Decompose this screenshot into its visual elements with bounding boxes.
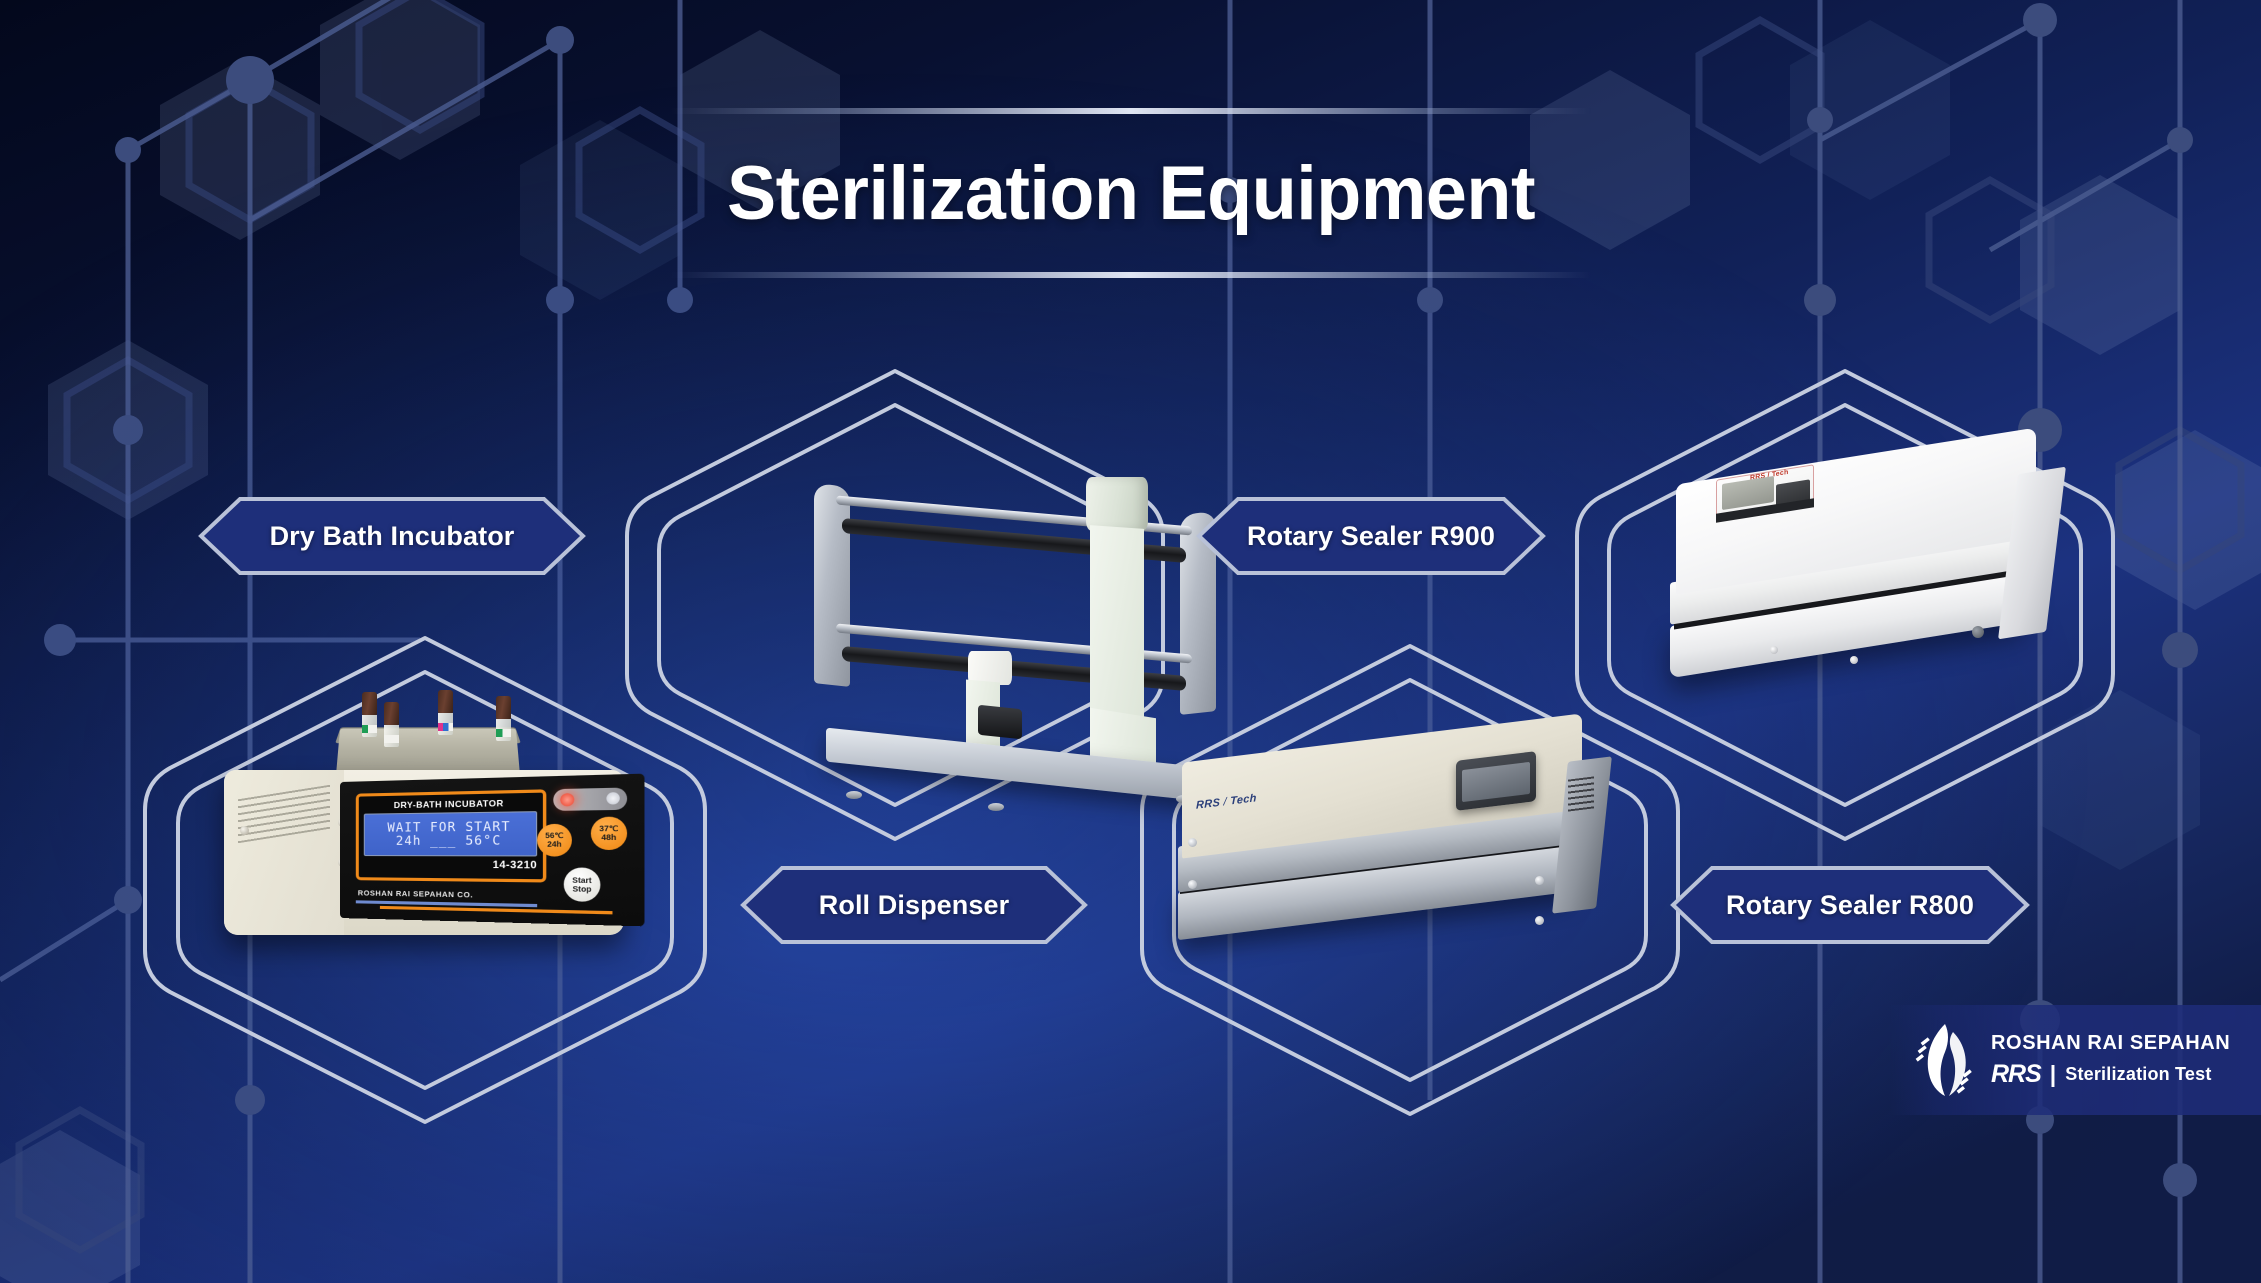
incubator-display-frame: DRY-BATH INCUBATOR WAIT FOR START 24h __… — [356, 789, 547, 882]
incubator-lcd-line2: 24h ___ 56°C — [396, 834, 502, 848]
incubator-button-start-stop[interactable]: Start Stop — [564, 867, 601, 902]
dispenser-foot — [988, 803, 1004, 811]
product-rotary-sealer-r800: RRS / Tech — [1660, 450, 2080, 690]
incubator-button-37c-48h[interactable]: 37℃ 48h — [591, 817, 627, 850]
label-text: Rotary Sealer R900 — [1247, 521, 1495, 552]
incubator-vial — [496, 696, 511, 741]
incubator-led-red — [560, 793, 574, 806]
logo-separator: | — [2050, 1061, 2056, 1088]
r900-screw — [1188, 838, 1197, 847]
label-text: Rotary Sealer R800 — [1726, 890, 1974, 921]
r900-vents — [1568, 776, 1594, 811]
r900-hmi-touchscreen[interactable] — [1456, 751, 1536, 811]
incubator-button-56c-24h[interactable]: 56℃ 24h — [537, 824, 572, 857]
page-title-block: Sterilization Equipment — [671, 108, 1591, 278]
brand-logo: ROSHAN RAI SEPAHAN RRS | Sterilization T… — [1891, 1005, 2261, 1115]
incubator-led-grey — [606, 792, 619, 804]
incubator-screw — [240, 826, 249, 835]
dispenser-foot — [846, 791, 862, 799]
incubator-panel-title: DRY-BATH INCUBATOR — [364, 797, 537, 811]
label-roll-dispenser[interactable]: Roll Dispenser — [740, 865, 1088, 945]
incubator-model-number: 14-3210 — [364, 859, 537, 872]
poster-canvas: Sterilization Equipment — [0, 0, 2261, 1283]
logo-tagline: Sterilization Test — [2065, 1064, 2211, 1085]
logo-tagline-row: RRS | Sterilization Test — [1991, 1060, 2230, 1089]
dispenser-cutter — [978, 705, 1022, 740]
product-dry-bath-incubator: DRY-BATH INCUBATOR WAIT FOR START 24h __… — [210, 700, 640, 950]
label-rotary-sealer-r800[interactable]: Rotary Sealer R800 — [1670, 865, 2030, 945]
logo-abbreviation: RRS — [1991, 1060, 2041, 1089]
logo-company-name: ROSHAN RAI SEPAHAN — [1991, 1032, 2230, 1055]
r800-knob[interactable] — [1972, 626, 1984, 638]
label-rotary-sealer-r900[interactable]: Rotary Sealer R900 — [1196, 496, 1546, 576]
dispenser-roll-large — [1086, 477, 1148, 531]
r900-screw — [1188, 880, 1197, 889]
incubator-vial — [362, 692, 377, 737]
product-rotary-sealer-r900: RRS / Tech — [1170, 730, 1610, 960]
incubator-stripe-orange — [380, 906, 613, 915]
logo-text-block: ROSHAN RAI SEPAHAN RRS | Sterilization T… — [1991, 1032, 2230, 1089]
incubator-vial — [384, 702, 399, 747]
dispenser-roll-tail — [1090, 525, 1144, 725]
label-text: Roll Dispenser — [819, 890, 1009, 921]
flame-logo-icon — [1915, 1022, 1977, 1098]
page-title: Sterilization Equipment — [684, 114, 1576, 272]
incubator-vial — [438, 690, 453, 735]
r800-screw — [1770, 646, 1778, 654]
label-dry-bath-incubator[interactable]: Dry Bath Incubator — [198, 496, 586, 576]
incubator-control-panel: DRY-BATH INCUBATOR WAIT FOR START 24h __… — [340, 774, 644, 927]
r800-screw — [1850, 656, 1858, 664]
incubator-lcd: WAIT FOR START 24h ___ 56°C — [364, 811, 537, 856]
label-text: Dry Bath Incubator — [270, 521, 515, 552]
incubator-led-bar — [553, 787, 627, 810]
r900-screw — [1535, 916, 1544, 925]
r900-screw — [1535, 876, 1544, 885]
incubator-brand-text: ROSHAN RAI SEPAHAN CO. — [358, 888, 473, 899]
title-divider-bottom — [671, 272, 1591, 278]
r900-hmi-screen — [1462, 762, 1530, 802]
